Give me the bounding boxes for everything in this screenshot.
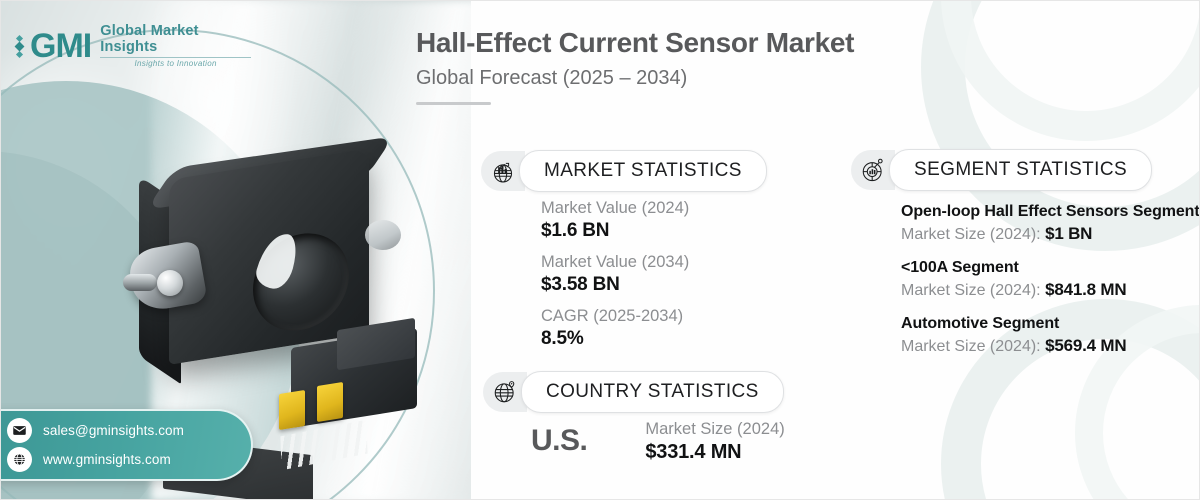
country-name: U.S. [531, 419, 587, 457]
logo-tagline: Insights to Innovation [100, 59, 251, 68]
contact-email-text: sales@gminsights.com [43, 423, 184, 438]
envelope-icon [7, 418, 32, 443]
title-block: Hall-Effect Current Sensor Market Global… [416, 27, 1036, 105]
market-stat-value-2: 8.5% [541, 327, 791, 352]
segment-label-1: Market Size (2024): [901, 282, 1045, 299]
section-label-pill-market: MARKET STATISTICS [519, 150, 767, 192]
title-underline-rule [416, 102, 491, 105]
section-header-country-statistics: COUNTRY STATISTICS [483, 372, 784, 412]
market-stat-label-1: Market Value (2034) [541, 251, 791, 273]
segment-label-0: Market Size (2024): [901, 226, 1045, 243]
contact-email-row[interactable]: sales@gminsights.com [7, 418, 251, 443]
country-metric-block: Market Size (2024) $331.4 MN [645, 419, 784, 465]
gmi-logo[interactable]: GMI Global Market Insights Insights to I… [16, 23, 251, 69]
logo-company-name: Global Market Insights [100, 24, 251, 56]
logo-divider [100, 57, 251, 58]
segment-label-2: Market Size (2024): [901, 338, 1045, 355]
segment-title-0: Open-loop Hall Effect Sensors Segment [901, 201, 1200, 222]
section-label-pill-segment: SEGMENT STATISTICS [889, 149, 1152, 191]
logo-diamond-mark-icon [16, 36, 23, 57]
section-header-market-statistics: MARKET STATISTICS [481, 151, 767, 191]
market-stat-label-0: Market Value (2024) [541, 197, 791, 219]
segment-title-2: Automotive Segment [901, 313, 1200, 334]
segment-row-2: Market Size (2024): $569.4 MN [901, 334, 1200, 359]
country-metric-label: Market Size (2024) [645, 419, 784, 440]
segment-title-1: <100A Segment [901, 257, 1200, 278]
market-stat-label-2: CAGR (2025-2034) [541, 305, 791, 327]
section-header-segment-statistics: SEGMENT STATISTICS [851, 150, 1152, 190]
page-subtitle: Global Forecast (2025 – 2034) [416, 67, 1036, 90]
country-metric-value: $331.4 MN [645, 440, 784, 465]
contact-info-pill: sales@gminsights.com www.gminsights.com [1, 409, 253, 481]
product-image-panel: sales@gminsights.com www.gminsights.com [1, 1, 471, 500]
page-title: Hall-Effect Current Sensor Market [416, 27, 1036, 59]
sensor-yellow-connector-1 [279, 390, 305, 430]
sensor-clamp-pin [157, 270, 183, 296]
market-stat-value-0: $1.6 BN [541, 219, 791, 244]
market-statistics-list: Market Value (2024) $1.6 BN Market Value… [541, 197, 791, 359]
segment-value-1: $841.8 MN [1045, 280, 1126, 299]
segment-value-0: $1 BN [1045, 224, 1092, 243]
content-panel: GMI Global Market Insights Insights to I… [471, 1, 1200, 500]
contact-website-row[interactable]: www.gminsights.com [7, 447, 251, 472]
sensor-right-nub [365, 220, 401, 250]
segment-row-1: Market Size (2024): $841.8 MN [901, 278, 1200, 303]
section-label-country: COUNTRY STATISTICS [546, 381, 759, 403]
section-label-pill-country: COUNTRY STATISTICS [521, 371, 784, 413]
segment-row-0: Market Size (2024): $1 BN [901, 222, 1200, 247]
sensor-clamp-rod [123, 274, 157, 291]
segment-statistics-list: Open-loop Hall Effect Sensors Segment Ma… [901, 201, 1200, 368]
section-label-market: MARKET STATISTICS [544, 160, 742, 182]
country-statistics-block: U.S. Market Size (2024) $331.4 MN [531, 419, 785, 465]
contact-website-text: www.gminsights.com [43, 452, 171, 467]
logo-gmi-text: GMI [30, 29, 91, 63]
market-stat-value-1: $3.58 BN [541, 273, 791, 298]
infographic-canvas: sales@gminsights.com www.gminsights.com [0, 0, 1200, 500]
globe-icon [7, 447, 32, 472]
sensor-yellow-connector-2 [317, 382, 343, 422]
section-label-segment: SEGMENT STATISTICS [914, 159, 1127, 181]
segment-value-2: $569.4 MN [1045, 336, 1126, 355]
